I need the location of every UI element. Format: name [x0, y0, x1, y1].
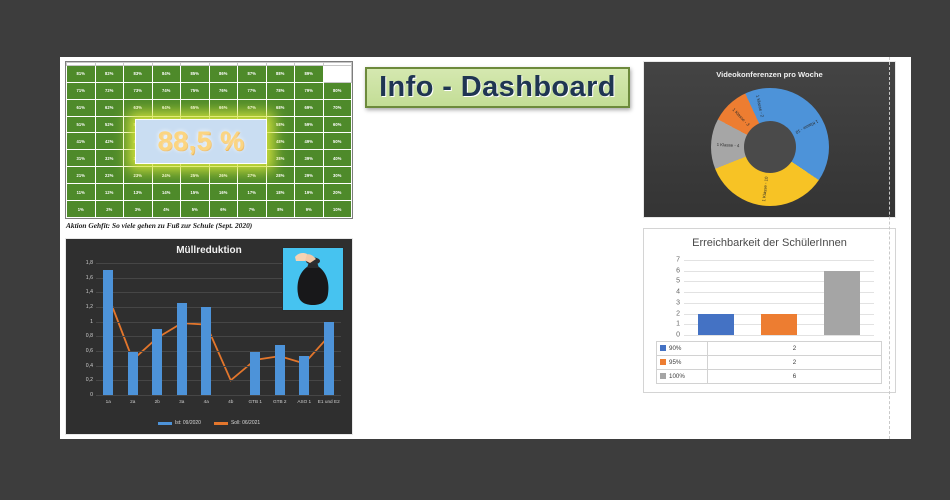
videokonferenzen-title: Videokonferenzen pro Woche — [644, 70, 895, 79]
y-axis-tick-label: 0,6 — [86, 348, 93, 354]
table-row: 61%62%63%64%65%66%67%68%69%70% — [67, 99, 352, 116]
pie-slice-label: 1 Klasse - 3 — [731, 107, 750, 127]
table-cell: 29% — [295, 167, 324, 184]
y-axis-tick-label: 1 — [676, 321, 680, 328]
table-cell: 75% — [181, 82, 210, 99]
table-cell: 20% — [323, 184, 352, 201]
table-cell: 38% — [266, 150, 295, 167]
x-axis-tick-label: ASO 1 — [297, 399, 311, 404]
legend-key-cell: 90% — [657, 342, 708, 356]
bar — [275, 345, 285, 395]
table-cell: 3% — [124, 201, 153, 218]
table-cell: 69% — [295, 99, 324, 116]
table-cell: 14% — [152, 184, 181, 201]
page-fold-guide — [889, 57, 891, 439]
pie-slice-label: 1 Klasse - 2 — [756, 94, 766, 117]
table-cell: 27% — [238, 167, 267, 184]
y-axis-tick-label: 4 — [676, 289, 680, 296]
table-cell: 59% — [295, 116, 324, 133]
table-cell: 76% — [209, 82, 238, 99]
muellreduktion-legend: Ist: 09/2020 Soll: 06/2021 — [66, 420, 352, 426]
legend-key-cell: 100% — [657, 370, 708, 384]
table-cell: 66% — [209, 99, 238, 116]
y-axis-tick-label: 1,8 — [86, 260, 93, 266]
table-cell: 6% — [209, 201, 238, 218]
table-cell: 11% — [67, 184, 96, 201]
value-cell: 6 — [708, 370, 882, 384]
bar — [103, 270, 113, 395]
legend-swatch-icon — [158, 422, 172, 425]
y-axis-tick-label: 1,6 — [86, 275, 93, 281]
table-cell: 7% — [238, 201, 267, 218]
erreichbarkeit-data-table: 90%295%2100%6 — [656, 341, 882, 384]
table-cell: 64% — [152, 99, 181, 116]
gridline — [96, 395, 341, 396]
table-cell: 82% — [95, 65, 124, 82]
page-title: Info - Dashboard — [379, 71, 616, 104]
videokonferenzen-chart: Videokonferenzen pro Woche 1 Klasse - 10… — [643, 61, 896, 218]
erreichbarkeit-title: Erreichbarkeit der SchülerInnen — [644, 237, 895, 249]
table-row: 71%72%73%74%75%76%77%78%79%80% — [67, 82, 352, 99]
pie-slice-label: 1 Klasse - 10 — [794, 119, 819, 135]
y-axis-tick-label: 0 — [90, 392, 93, 398]
table-cell: 60% — [323, 116, 352, 133]
table-cell: 8% — [266, 201, 295, 218]
gridline — [684, 260, 874, 261]
y-axis-tick-label: 7 — [676, 257, 680, 264]
table-cell: 49% — [295, 133, 324, 150]
table-cell: 84% — [152, 65, 181, 82]
x-axis-tick-label: 4a — [204, 399, 209, 404]
table-cell: 24% — [152, 167, 181, 184]
gridline — [96, 336, 341, 337]
legend-label-ist: Ist: 09/2020 — [175, 420, 201, 426]
highlight-value: 88,5 % — [157, 126, 244, 157]
pie-slice-label: 1 Klasse - 4 — [716, 142, 739, 148]
table-cell: 85% — [181, 65, 210, 82]
legend-swatch-icon — [660, 345, 666, 351]
legend-key-cell: 95% — [657, 356, 708, 370]
table-cell: 15% — [181, 184, 210, 201]
table-cell: 81% — [67, 65, 96, 82]
table-cell: 22% — [95, 167, 124, 184]
legend-label-soll: Soll: 06/2021 — [231, 420, 260, 426]
table-cell: 4% — [152, 201, 181, 218]
y-axis-tick-label: 0 — [676, 332, 680, 339]
highlight-callout: 88,5 % — [135, 119, 267, 164]
donut-hole — [744, 121, 796, 173]
table-cell: 67% — [238, 99, 267, 116]
x-axis-tick-label: 4b — [228, 399, 233, 404]
table-cell: 32% — [95, 150, 124, 167]
table-cell: 88% — [266, 65, 295, 82]
bar — [324, 322, 334, 395]
table-cell: 83% — [124, 65, 153, 82]
table-cell: 50% — [323, 133, 352, 150]
table-cell: 65% — [181, 99, 210, 116]
pie-slice-label: 1 Klasse - 10 — [761, 176, 769, 201]
legend-item-soll: Soll: 06/2021 — [214, 420, 260, 426]
bar — [250, 352, 260, 395]
table-cell: 18% — [266, 184, 295, 201]
y-axis-tick-label: 1,2 — [86, 304, 93, 310]
table-cell: 79% — [295, 82, 324, 99]
table-cell: 25% — [181, 167, 210, 184]
y-axis-tick-label: 0,2 — [86, 377, 93, 383]
table-cell: 89% — [295, 65, 324, 82]
value-cell: 2 — [708, 342, 882, 356]
table-cell: 72% — [95, 82, 124, 99]
y-axis-tick-label: 1,4 — [86, 289, 93, 295]
x-axis-tick-label: 2a — [130, 399, 135, 404]
table-cell: 62% — [95, 99, 124, 116]
walking-table-caption: Aktion Gehfit: So viele gehen zu Fuß zur… — [66, 221, 356, 230]
table-cell: 86% — [209, 65, 238, 82]
bar — [152, 329, 162, 395]
table-cell: 10% — [323, 201, 352, 218]
table-cell: 63% — [124, 99, 153, 116]
table-cell: 19% — [295, 184, 324, 201]
muellreduktion-chart: Müllreduktion 00,20,40,60,811,21,41,61,8… — [65, 238, 353, 435]
table-cell: 48% — [266, 133, 295, 150]
gridline — [684, 335, 874, 336]
table-cell: 23% — [124, 167, 153, 184]
table-cell: 68% — [266, 99, 295, 116]
legend-item-ist: Ist: 09/2020 — [158, 420, 201, 426]
table-row: 100%6 — [657, 370, 882, 384]
table-cell: 58% — [266, 116, 295, 133]
bar — [128, 352, 138, 395]
table-cell: 21% — [67, 167, 96, 184]
y-axis-tick-label: 0,8 — [86, 333, 93, 339]
slide-canvas: 81%82%83%84%85%86%87%88%89%71%72%73%74%7… — [0, 0, 950, 500]
donut-ring: 1 Klasse - 101 Klasse - 101 Klasse - 41 … — [711, 88, 829, 206]
bar — [177, 303, 187, 395]
table-cell: 12% — [95, 184, 124, 201]
table-row: 1%2%3%4%5%6%7%8%9%10% — [67, 201, 352, 218]
table-row: 90%2 — [657, 342, 882, 356]
table-cell: 61% — [67, 99, 96, 116]
legend-swatch-icon — [660, 373, 666, 379]
value-cell: 2 — [708, 356, 882, 370]
table-cell: 16% — [209, 184, 238, 201]
table-cell — [323, 65, 352, 82]
table-row: 21%22%23%24%25%26%27%28%29%30% — [67, 167, 352, 184]
document-page: 81%82%83%84%85%86%87%88%89%71%72%73%74%7… — [60, 57, 911, 439]
gridline — [96, 322, 341, 323]
x-axis-tick-label: GTB 1 — [248, 399, 262, 404]
x-axis-tick-label: GTB 2 — [273, 399, 287, 404]
legend-swatch-icon — [660, 359, 666, 365]
x-axis-tick-label: E1 und E2 — [318, 399, 340, 404]
table-cell: 73% — [124, 82, 153, 99]
dashboard-title-banner: Info - Dashboard — [365, 67, 630, 108]
y-axis-tick-label: 3 — [676, 299, 680, 306]
x-axis-tick-label: 2b — [155, 399, 160, 404]
table-row: 81%82%83%84%85%86%87%88%89% — [67, 65, 352, 82]
table-cell: 74% — [152, 82, 181, 99]
y-axis-tick-label: 0,4 — [86, 363, 93, 369]
table-cell: 1% — [67, 201, 96, 218]
table-cell: 52% — [95, 116, 124, 133]
table-cell: 70% — [323, 99, 352, 116]
x-axis-tick-label: 3a — [179, 399, 184, 404]
table-row: 95%2 — [657, 356, 882, 370]
y-axis-tick-label: 5 — [676, 278, 680, 285]
erreichbarkeit-plot-area: 01234567 — [684, 260, 874, 335]
table-cell: 77% — [238, 82, 267, 99]
table-cell: 2% — [95, 201, 124, 218]
erreichbarkeit-chart: Erreichbarkeit der SchülerInnen 01234567… — [643, 228, 896, 393]
y-axis-tick-label: 6 — [676, 267, 680, 274]
table-cell: 17% — [238, 184, 267, 201]
table-cell: 13% — [124, 184, 153, 201]
table-cell: 28% — [266, 167, 295, 184]
x-axis-tick-label: 1a — [106, 399, 111, 404]
y-axis-tick-label: 2 — [676, 310, 680, 317]
table-cell: 78% — [266, 82, 295, 99]
trash-bag-image — [282, 247, 344, 311]
table-cell: 31% — [67, 150, 96, 167]
table-cell: 42% — [95, 133, 124, 150]
table-cell: 40% — [323, 150, 352, 167]
table-cell: 39% — [295, 150, 324, 167]
table-cell: 41% — [67, 133, 96, 150]
table-cell: 5% — [181, 201, 210, 218]
table-cell: 26% — [209, 167, 238, 184]
bar — [698, 314, 734, 335]
table-row: 11%12%13%14%15%16%17%18%19%20% — [67, 184, 352, 201]
table-cell: 30% — [323, 167, 352, 184]
y-axis-tick-label: 1 — [90, 319, 93, 325]
legend-swatch-icon — [214, 422, 228, 425]
bar — [761, 314, 797, 335]
table-cell: 51% — [67, 116, 96, 133]
bar — [824, 271, 860, 335]
table-cell: 87% — [238, 65, 267, 82]
table-cell: 80% — [323, 82, 352, 99]
table-cell: 9% — [295, 201, 324, 218]
bar — [201, 307, 211, 395]
table-cell: 71% — [67, 82, 96, 99]
bar — [299, 356, 309, 395]
